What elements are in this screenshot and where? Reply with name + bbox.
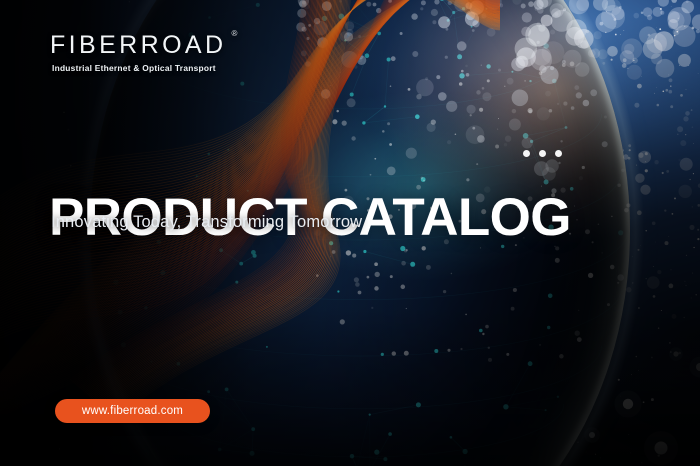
logo-wordmark-text: FIBERROAD [50, 31, 226, 59]
logo-tagline: Industrial Ethernet & Optical Transport [52, 63, 226, 73]
decor-dot [555, 150, 562, 157]
decor-dot [523, 150, 530, 157]
decor-dots [523, 150, 562, 157]
fiberroad-logo: FIBERROAD ® Industrial Ethernet & Optica… [50, 33, 226, 73]
website-url-button[interactable]: www.fiberroad.com [55, 399, 210, 423]
registered-trademark-icon: ® [232, 30, 238, 38]
page-subtitle: Innovating Today, Transforming Tomorrow [51, 213, 362, 232]
catalog-cover-page: FIBERROAD ® Industrial Ethernet & Optica… [0, 0, 700, 466]
logo-wordmark: FIBERROAD ® [50, 33, 226, 58]
decor-dot [539, 150, 546, 157]
